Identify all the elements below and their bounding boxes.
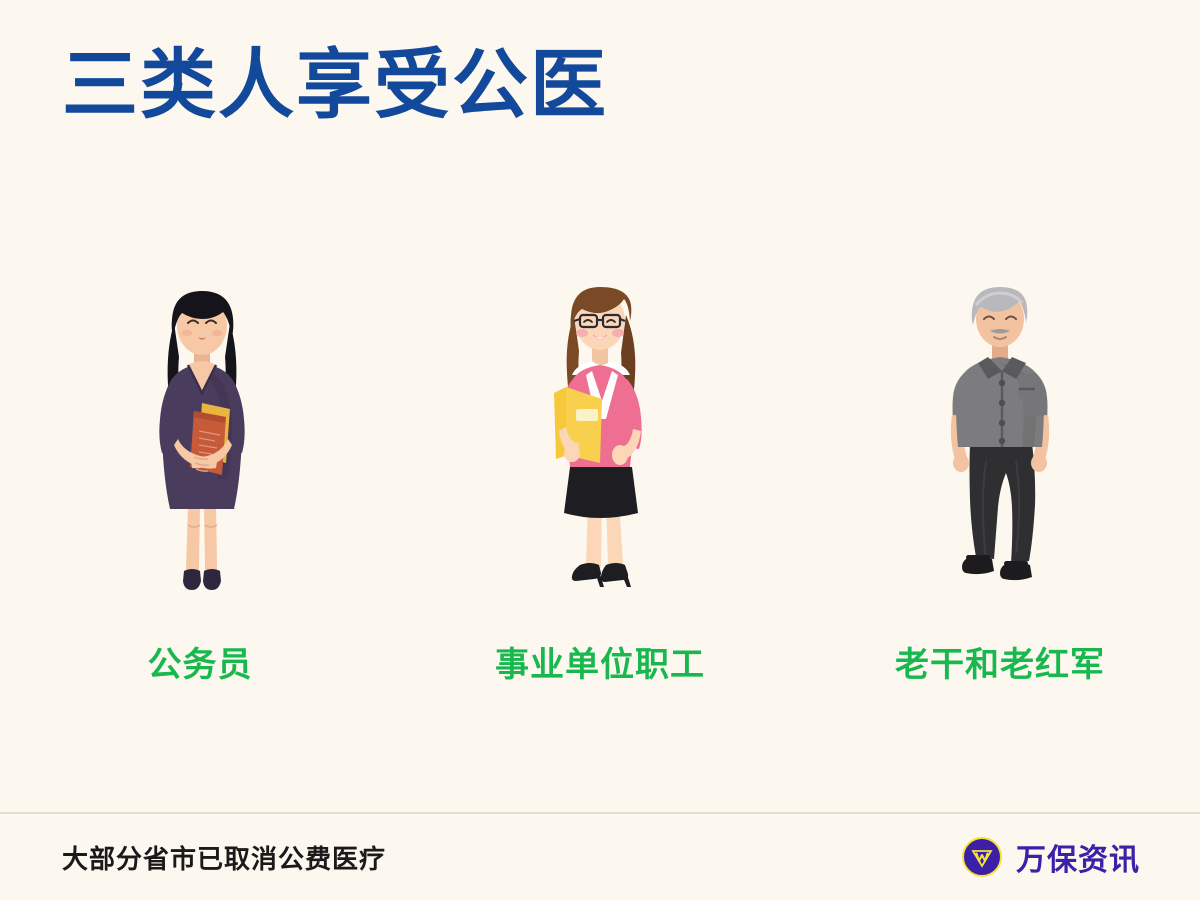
figure-row: 公务员 xyxy=(0,275,1200,715)
public-institution-employee-woman-illustration xyxy=(500,275,700,615)
person-caption-institution-employee: 事业单位职工 xyxy=(495,637,705,686)
person-caption-civil-servant: 公务员 xyxy=(148,637,253,686)
retired-cadre-veteran-man-illustration xyxy=(900,275,1100,615)
slide-canvas: 三类人享受公医 xyxy=(0,0,1200,900)
page-title: 三类人享受公医 xyxy=(62,44,608,128)
brand-mark-icon xyxy=(962,837,1002,877)
person-card-retired-cadre: 老干和老红军 xyxy=(820,275,1180,686)
brand-name: 万保资讯 xyxy=(1016,835,1140,879)
person-card-civil-servant: 公务员 xyxy=(20,275,380,686)
brand-logo: 万保资讯 xyxy=(962,835,1140,879)
footer-bar: 大部分省市已取消公费医疗 万保资讯 xyxy=(0,814,1200,900)
civil-servant-woman-illustration xyxy=(100,275,300,615)
footer-note: 大部分省市已取消公费医疗 xyxy=(62,839,386,876)
person-card-institution-employee: 事业单位职工 xyxy=(420,275,780,686)
person-caption-retired-cadre: 老干和老红军 xyxy=(895,637,1105,686)
